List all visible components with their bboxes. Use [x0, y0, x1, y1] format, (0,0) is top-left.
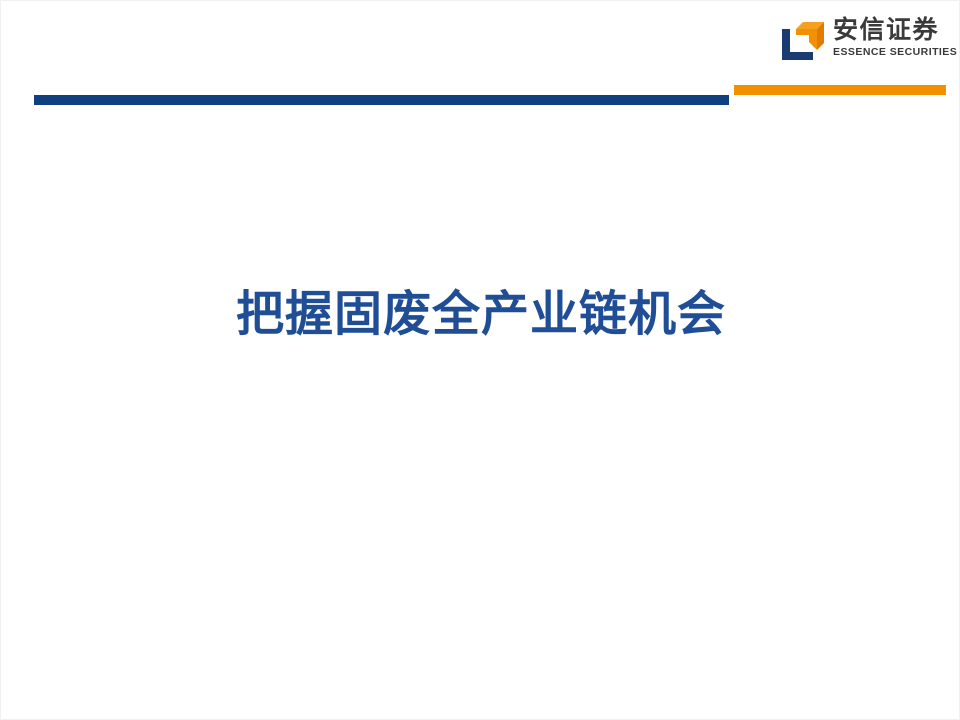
page-title: 把握固废全产业链机会: [236, 289, 726, 339]
brand-name-en: ESSENCE SECURITIES: [833, 46, 957, 58]
essence-securities-cube-logo-icon: [779, 18, 825, 64]
title-area: 把握固废全产业链机会: [1, 279, 960, 349]
header-rule-orange: [734, 85, 946, 95]
slide-canvas: 安信证券 ESSENCE SECURITIES 把握固废全产业链机会: [0, 0, 960, 720]
brand-name-cn: 安信证券: [833, 17, 939, 43]
header-rule-blue: [34, 95, 729, 105]
brand-lockup: 安信证券 ESSENCE SECURITIES: [779, 15, 951, 77]
brand-text-block: 安信证券 ESSENCE SECURITIES: [833, 15, 957, 58]
